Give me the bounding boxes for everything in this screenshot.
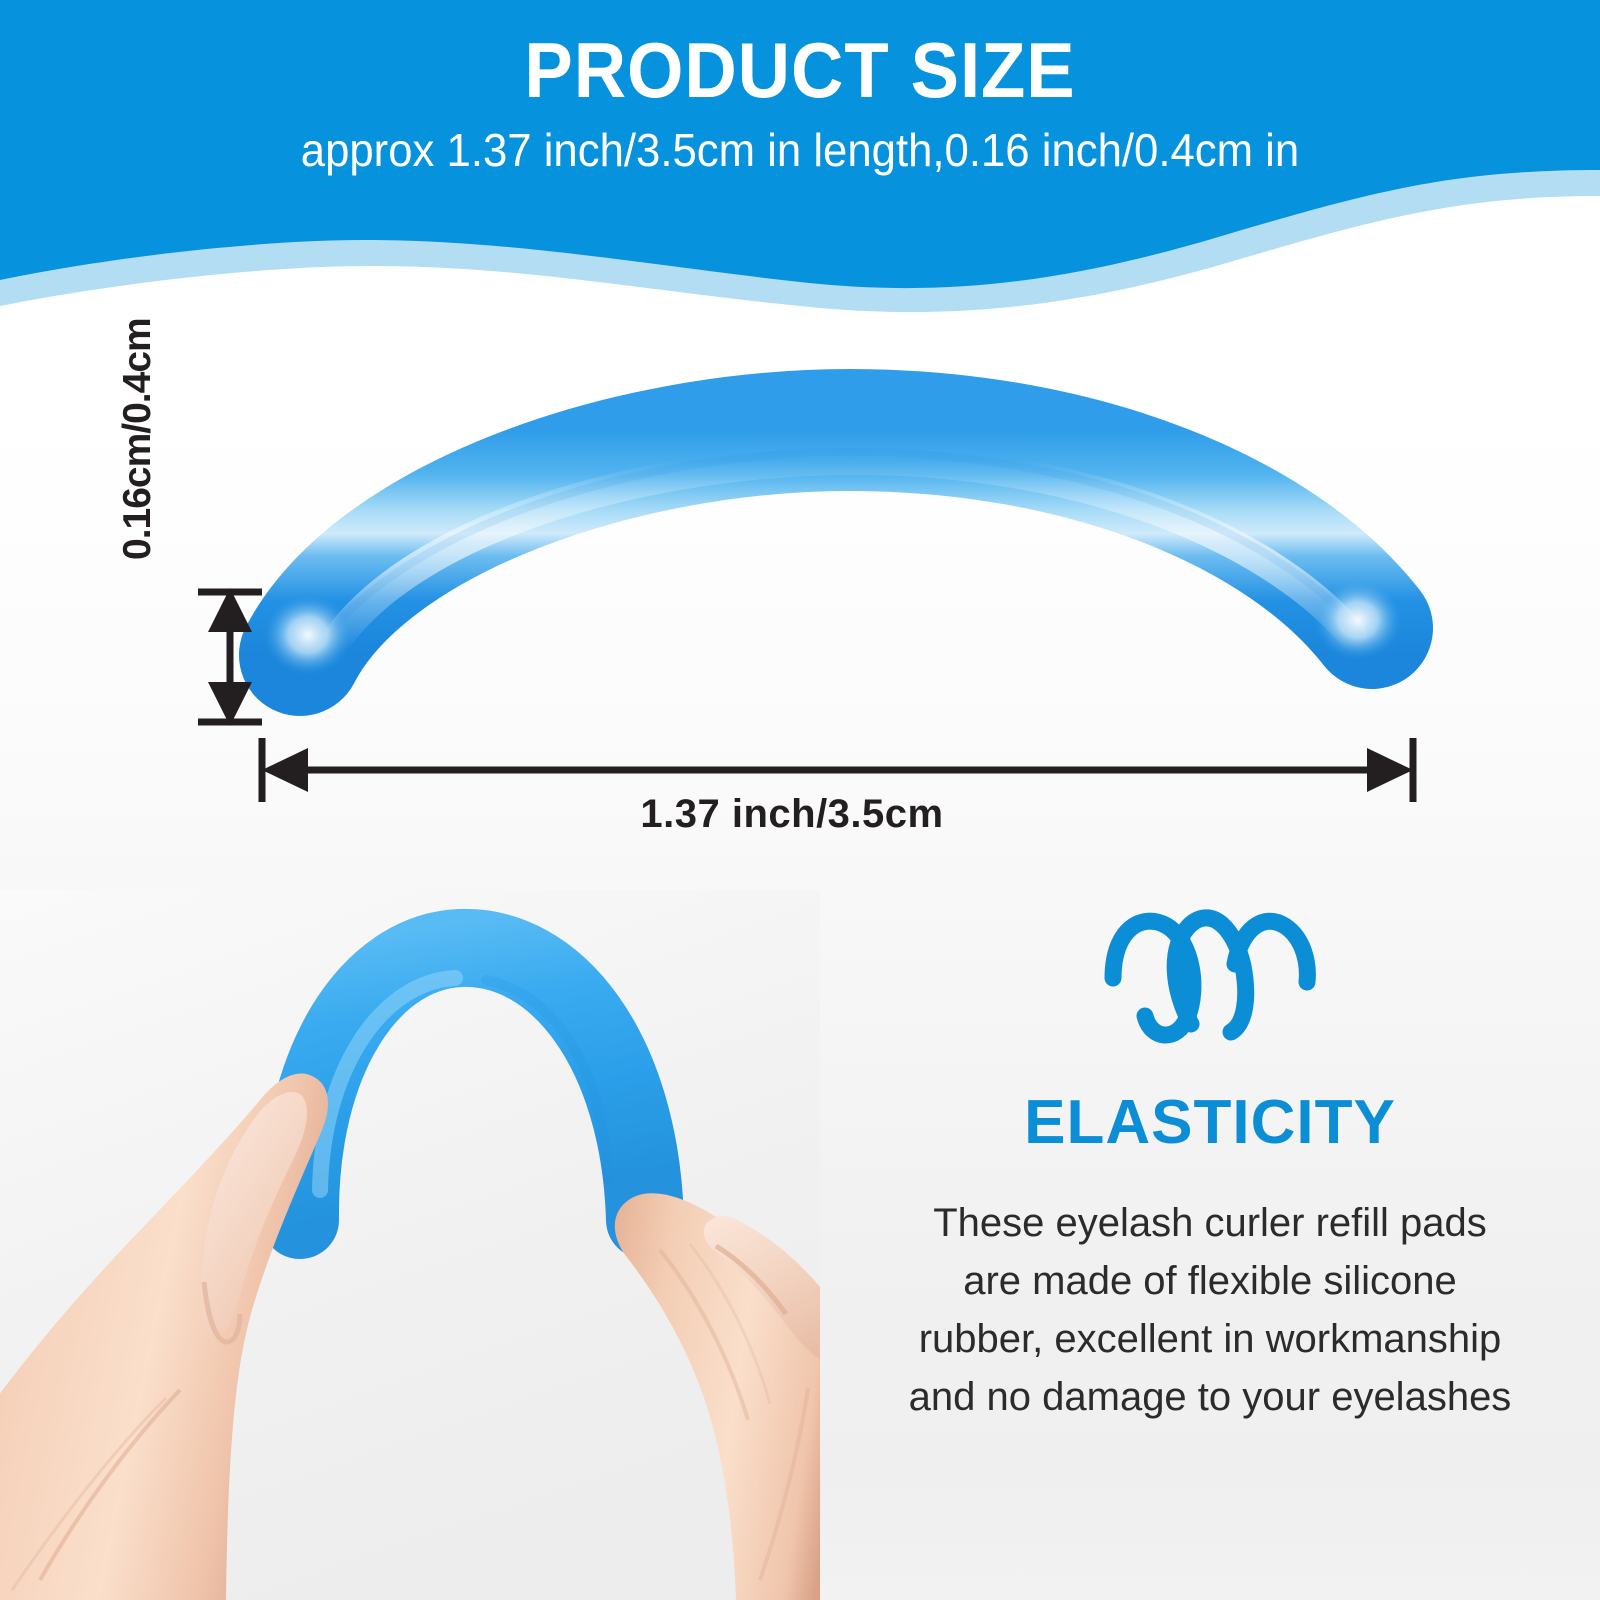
product-pad-illustration — [264, 430, 1402, 675]
elasticity-title: ELASTICITY — [860, 1090, 1560, 1156]
product-infographic: PRODUCT SIZE approx 1.37 inch/3.5cm in l… — [0, 0, 1600, 1600]
spring-coil-icon — [860, 900, 1560, 1050]
bottom-section: ELASTICITY These eyelash curler refill p… — [0, 890, 1600, 1600]
width-dimension-label-text: 1.37 inch/3.5cm — [640, 792, 943, 837]
width-dimension-label: 1.37 inch/3.5cm — [0, 792, 1600, 837]
fingers-bending-pad-photo — [0, 890, 820, 1600]
header-wave-main — [0, 0, 1600, 288]
height-dimension-label: 0.16cm/0.4cm — [108, 240, 168, 560]
header-wave-shape — [0, 0, 1600, 330]
elasticity-description: These eyelash curler refill pads are mad… — [905, 1194, 1515, 1426]
fingers-photo-graphic — [0, 890, 820, 1600]
elasticity-panel: ELASTICITY These eyelash curler refill p… — [860, 900, 1560, 1426]
size-diagram: 0.16cm/0.4cm 1.37 inch/3.5cm — [0, 330, 1600, 890]
header-banner: PRODUCT SIZE approx 1.37 inch/3.5cm in l… — [0, 0, 1600, 330]
